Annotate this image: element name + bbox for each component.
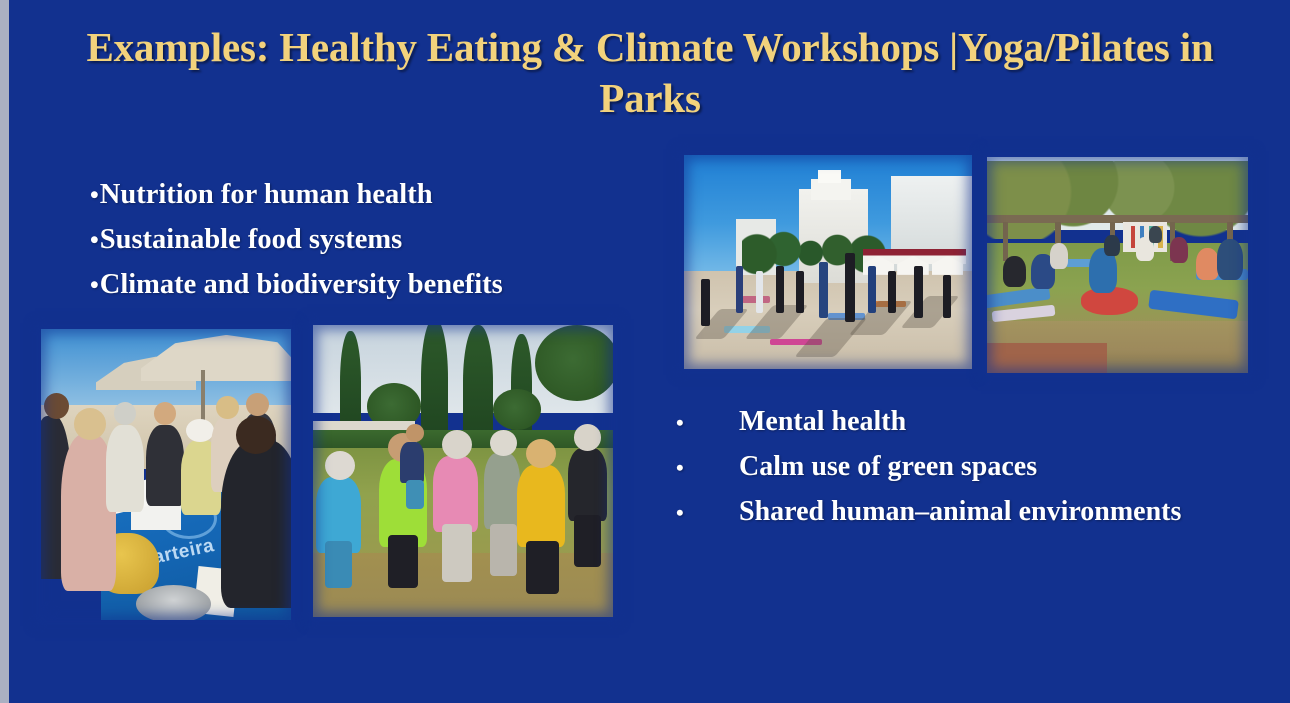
participant [736,266,743,313]
participant [888,271,895,314]
bullet-icon: • [676,446,739,490]
participant [1149,226,1162,243]
slide-title: Examples: Healthy Eating & Climate Works… [52,22,1248,124]
participant-legs [526,541,559,594]
participant [756,271,763,314]
instructor-legs [406,480,424,509]
participant-head [325,451,355,480]
participant [776,266,783,313]
metal-tray [136,585,211,620]
list-item-label: Shared human–animal environments [739,490,1181,534]
photo-scene [684,155,972,369]
pergola-post [1003,222,1009,261]
list-item: • Calm use of green spaces [676,445,1276,490]
participant [701,279,710,326]
photo-park-group [313,325,613,617]
participant [1104,235,1120,257]
list-item: • Nutrition for human health [90,173,650,218]
list-item-label: Nutrition for human health [100,173,433,217]
attendee [106,425,144,512]
participant [1217,239,1243,280]
participant [868,266,876,313]
participant-legs [442,524,472,582]
participant-head [574,424,601,450]
bullet-icon: • [676,491,739,535]
attendee-head [246,393,269,416]
pergola-beam [987,215,1248,223]
list-item: • Climate and biodiversity benefits [90,263,650,308]
participant-legs [388,535,418,588]
photo-food-stand: Quarteira [41,329,291,620]
bullet-icon: • [90,219,99,263]
photo-yoga-promenade [684,155,972,369]
list-item: • Mental health [676,400,1276,445]
wall-stripe [1131,226,1136,248]
attendee-head [154,402,177,425]
participant [845,253,855,321]
list-item-label: Calm use of green spaces [739,445,1037,489]
participant [1003,256,1026,286]
participant [914,266,923,317]
tree-canopy [493,389,541,430]
bullet-icon: • [90,174,99,218]
staff-head [236,416,276,454]
bullet-icon: • [90,264,99,308]
participant [1196,248,1219,280]
list-item-label: Sustainable food systems [100,218,402,262]
participant-legs [490,524,517,577]
attendee-cap [186,419,214,442]
left-bullet-list: • Nutrition for human health • Sustainab… [90,173,650,308]
staff-member [221,440,291,609]
gravel-path [987,343,1107,373]
participant [433,456,478,532]
slide-left-edge-strip [0,0,9,703]
participant [1170,237,1188,263]
participant [568,448,607,521]
list-item: • Shared human–animal environments [676,490,1276,535]
attendee-head [216,396,239,419]
photo-park-mats [987,157,1248,373]
building-tier-2 [818,170,841,183]
list-item: • Sustainable food systems [90,218,650,263]
instructor-head [406,424,424,442]
participant [943,275,950,318]
attendee [146,425,184,506]
bullet-icon: • [676,401,739,445]
list-item-label: Mental health [739,400,906,444]
participant [796,271,803,314]
participant [517,465,565,547]
participant [1050,243,1068,269]
participant-legs [325,541,352,588]
participant-head [526,439,556,468]
attendee-head [114,402,137,425]
attendee-head [44,393,69,419]
photo-scene [987,157,1248,373]
participant [819,262,828,318]
slide-canvas: Examples: Healthy Eating & Climate Works… [0,0,1290,703]
photo-scene [313,325,613,617]
photo-scene: Quarteira [41,329,291,620]
tree-canopy [535,325,613,401]
right-bullet-list: • Mental health • Calm use of green spac… [676,400,1276,535]
instructor [400,442,424,483]
list-item-label: Climate and biodiversity benefits [100,263,503,307]
tree-canopy-layer [987,161,1248,239]
participant-legs [574,515,601,568]
participant [484,453,520,529]
attendee-head [74,408,107,440]
